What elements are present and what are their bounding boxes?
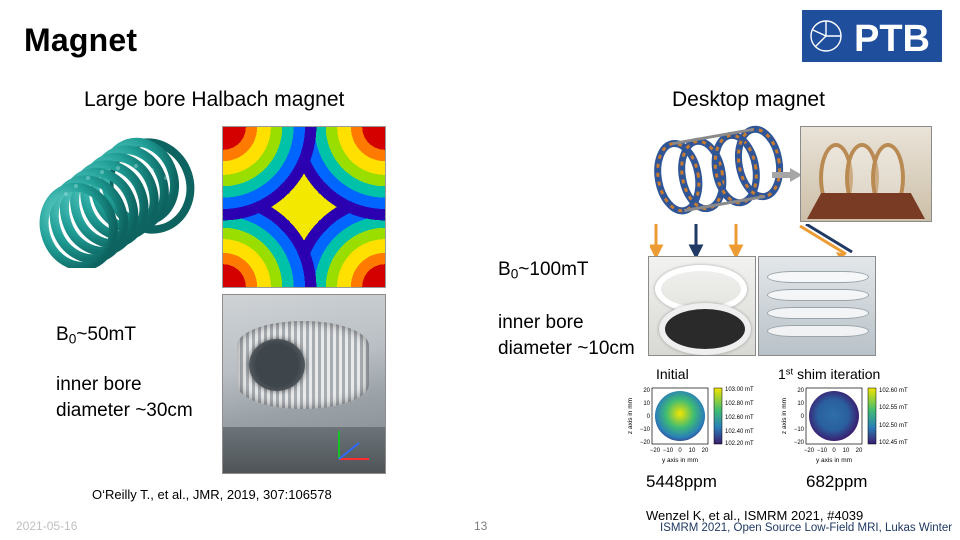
ring-rib-1 xyxy=(767,271,869,283)
field-map-initial: 20 10 0 −10 −20 −20 −10 0 10 20 y axis i… xyxy=(622,382,766,470)
simulated-field-map-colormap xyxy=(222,126,386,288)
svg-text:10: 10 xyxy=(689,448,696,454)
photo-bore xyxy=(249,339,305,391)
svg-text:102.80 mT: 102.80 mT xyxy=(725,401,754,407)
left-b0-value: B0~50mT xyxy=(56,322,136,352)
footer-page-number: 13 xyxy=(474,519,487,533)
coordinate-axes-icon xyxy=(331,425,375,465)
right-section-heading: Desktop magnet xyxy=(672,88,825,112)
left-b0-prefix: B xyxy=(56,324,69,345)
svg-text:20: 20 xyxy=(797,388,804,394)
left-b0-suffix: ~50mT xyxy=(76,324,136,345)
svg-text:0: 0 xyxy=(678,448,682,454)
left-bore-line1: inner bore xyxy=(56,372,193,398)
photo-stand xyxy=(807,193,925,219)
right-bore-line2: diameter ~10cm xyxy=(498,336,635,362)
svg-text:20: 20 xyxy=(643,388,650,394)
svg-text:y axis in mm: y axis in mm xyxy=(662,457,698,464)
left-bore-text: inner bore diameter ~30cm xyxy=(56,372,193,424)
svg-text:20: 20 xyxy=(856,448,863,454)
svg-text:103.00 mT: 103.00 mT xyxy=(725,387,754,393)
svg-text:0: 0 xyxy=(801,414,805,420)
ring-rib-2 xyxy=(767,289,869,301)
shim-ring-assembly-photograph xyxy=(758,256,876,356)
desktop-magnet-photograph xyxy=(800,126,932,222)
map-label-initial: Initial xyxy=(656,366,689,382)
footer-note: ISMRM 2021, Open Source Low-Field MRI, L… xyxy=(660,522,952,534)
page-title: Magnet xyxy=(24,22,137,59)
svg-text:−20: −20 xyxy=(804,448,815,454)
svg-text:102.55 mT: 102.55 mT xyxy=(879,405,908,411)
shim-tray-photograph xyxy=(648,256,756,356)
svg-text:102.60 mT: 102.60 mT xyxy=(879,388,908,394)
svg-text:−10: −10 xyxy=(817,448,828,454)
right-bore-text: inner bore diameter ~10cm xyxy=(498,310,635,362)
svg-text:102.60 mT: 102.60 mT xyxy=(725,415,754,421)
svg-text:y axis in mm: y axis in mm xyxy=(816,457,852,464)
svg-text:z axis in mm: z axis in mm xyxy=(627,398,634,434)
svg-text:20: 20 xyxy=(702,448,709,454)
left-reference: O‘Reilly T., et al., JMR, 2019, 307:1065… xyxy=(92,487,332,502)
map-label-shim-number: 1 xyxy=(778,366,786,382)
ppm-value-initial: 5448ppm xyxy=(646,472,717,492)
svg-text:−20: −20 xyxy=(640,440,651,446)
svg-text:−10: −10 xyxy=(663,448,674,454)
map-label-shim-rest: shim iteration xyxy=(793,366,880,382)
ring-rib-4 xyxy=(767,325,869,337)
right-b0-value: B0~100mT xyxy=(498,257,589,287)
ptb-logo: PTB xyxy=(802,10,942,62)
svg-text:102.40 mT: 102.40 mT xyxy=(725,429,754,435)
svg-text:−10: −10 xyxy=(640,427,651,433)
svg-text:−10: −10 xyxy=(794,427,805,433)
left-bore-line2: diameter ~30cm xyxy=(56,398,193,424)
slide: Magnet PTB Large bore Halbach magnet xyxy=(0,0,960,540)
right-b0-suffix: ~100mT xyxy=(518,259,588,280)
svg-text:102.20 mT: 102.20 mT xyxy=(725,441,754,447)
footer-date: 2021-05-16 xyxy=(16,519,77,533)
shim-tray-arc-filled xyxy=(659,303,751,355)
left-section-heading: Large bore Halbach magnet xyxy=(84,88,344,112)
svg-text:0: 0 xyxy=(832,448,836,454)
svg-text:102.50 mT: 102.50 mT xyxy=(879,423,908,429)
svg-text:z axis in mm: z axis in mm xyxy=(781,398,788,434)
svg-text:−20: −20 xyxy=(794,440,805,446)
svg-text:102.45 mT: 102.45 mT xyxy=(879,440,908,446)
svg-text:−20: −20 xyxy=(650,448,661,454)
map-label-shim: 1st shim iteration xyxy=(778,366,880,382)
arrow-right-icon xyxy=(772,168,802,182)
halbach-magnet-3d-render xyxy=(32,128,212,268)
right-b0-prefix: B xyxy=(498,259,511,280)
ppm-value-shim: 682ppm xyxy=(806,472,867,492)
field-map-shim-iteration: 20 10 0 −10 −20 −20 −10 0 10 20 y axis i… xyxy=(776,382,920,470)
svg-text:10: 10 xyxy=(797,401,804,407)
svg-text:0: 0 xyxy=(647,414,651,420)
svg-text:PTB: PTB xyxy=(854,18,930,60)
svg-text:10: 10 xyxy=(643,401,650,407)
right-bore-line1: inner bore xyxy=(498,310,635,336)
halbach-magnet-photograph xyxy=(222,294,386,474)
svg-text:10: 10 xyxy=(843,448,850,454)
ring-rib-3 xyxy=(767,307,869,319)
right-reference: Wenzel K, et al., ISMRM 2021, #4039 xyxy=(646,508,863,523)
